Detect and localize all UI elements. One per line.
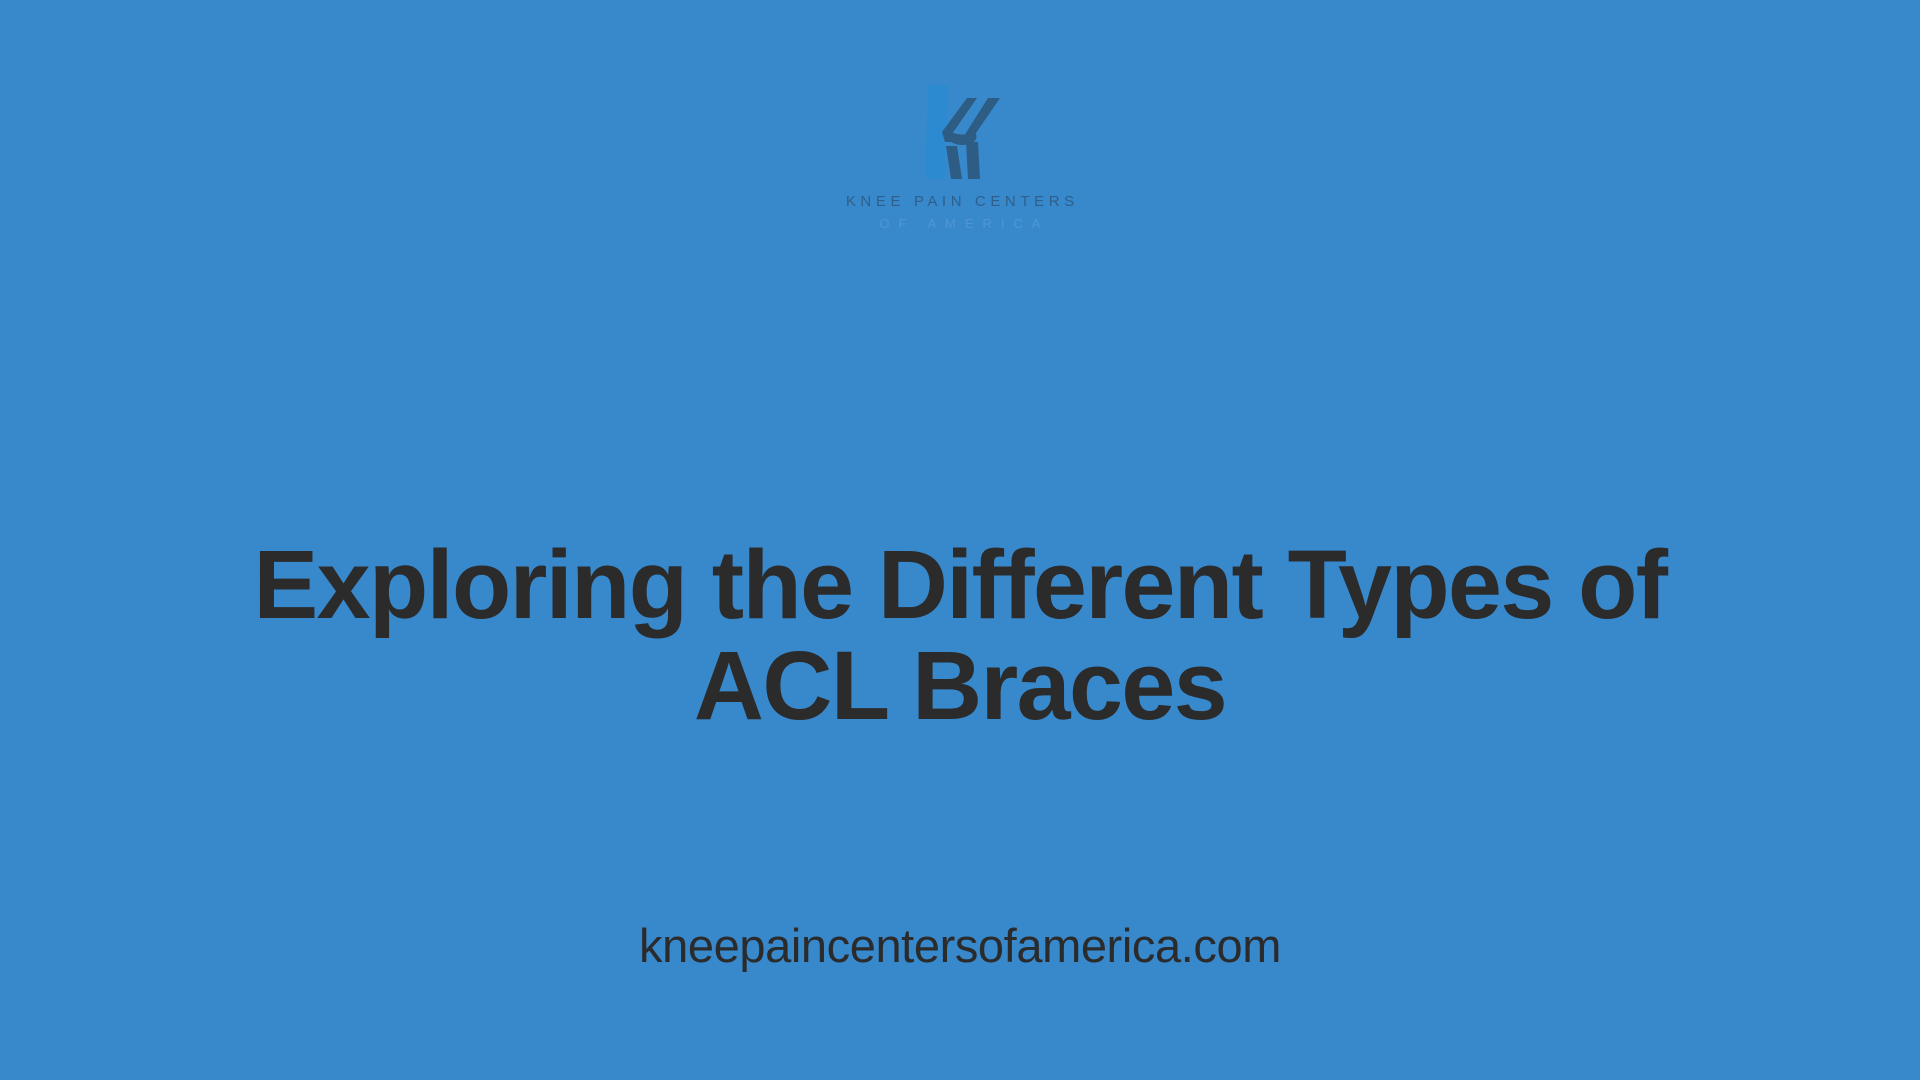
brand-wordmark: KNEE PAIN CENTERS bbox=[841, 194, 1079, 209]
page-title-line-2: ACL Braces bbox=[160, 636, 1760, 737]
title-slide: KNEE PAIN CENTERS OF AMERICA Exploring t… bbox=[0, 0, 1920, 1080]
brand-subwordmark: OF AMERICA bbox=[870, 217, 1049, 230]
brand-lockup: KNEE PAIN CENTERS OF AMERICA bbox=[0, 82, 1920, 230]
knee-logo-icon bbox=[912, 82, 1008, 182]
page-title-line-1: Exploring the Different Types of bbox=[160, 535, 1760, 636]
website-url: kneepaincentersofamerica.com bbox=[0, 920, 1920, 972]
page-title: Exploring the Different Types of ACL Bra… bbox=[0, 535, 1920, 737]
